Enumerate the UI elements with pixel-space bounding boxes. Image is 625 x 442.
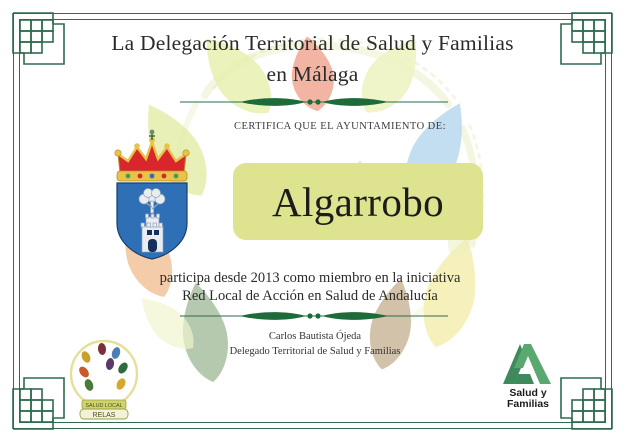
municipality-name: Algarrobo <box>233 163 483 240</box>
certificate-content: La Delegación Territorial de Salud y Fam… <box>0 0 625 442</box>
certificate-page: La Delegación Territorial de Salud y Fam… <box>0 0 625 442</box>
relas-label-line-1: SALUD LOCAL <box>85 403 122 409</box>
title-line-1: La Delegación Territorial de Salud y Fam… <box>60 28 565 59</box>
body-line-2: Red Local de Acción en Salud de Andalucí… <box>95 288 525 305</box>
junta-andalucia-logo: Salud y Familias <box>490 338 566 410</box>
certificate-title: La Delegación Territorial de Salud y Fam… <box>60 28 565 89</box>
signatory-role: Delegado Territorial de Salud y Familias <box>165 346 465 357</box>
divider-ornament-bottom <box>178 307 450 325</box>
coat-of-arms-icon <box>106 127 198 260</box>
divider-ornament-top <box>178 93 450 111</box>
relas-logo: SALUD LOCAL RELAS <box>58 330 150 428</box>
certifies-label: CERTIFICA QUE EL AYUNTAMIENTO DE: <box>200 121 480 132</box>
relas-label-line-2: RELAS <box>93 412 116 419</box>
title-line-2: en Málaga <box>60 59 565 90</box>
junta-label-line-2: Familias <box>507 398 549 410</box>
body-line-1: participa desde 2013 como miembro en la … <box>95 270 525 287</box>
signatory-name: Carlos Bautista Ójeda <box>165 331 465 342</box>
